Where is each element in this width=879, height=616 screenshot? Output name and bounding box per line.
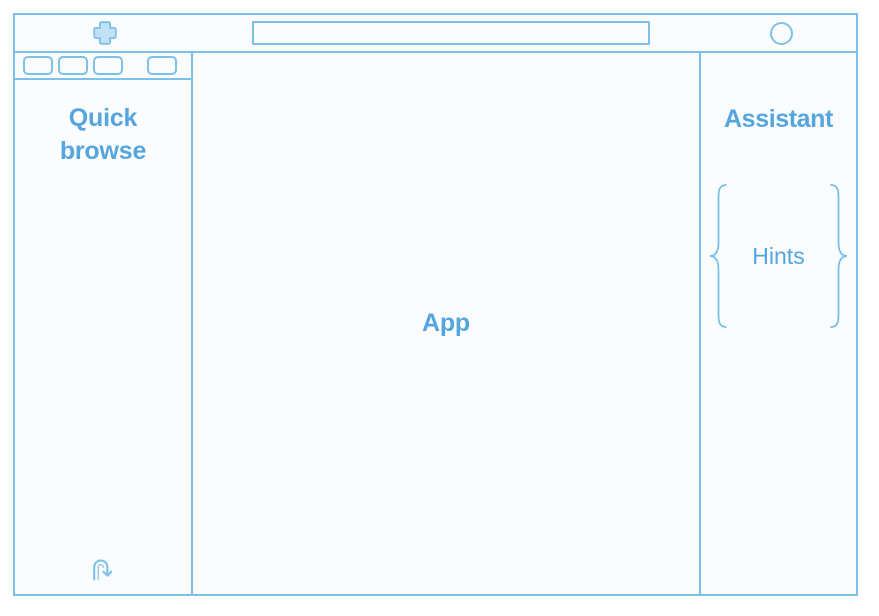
profile-area bbox=[706, 15, 856, 51]
left-curly-brace-icon bbox=[706, 182, 732, 330]
hints-block: Hints bbox=[711, 182, 846, 330]
sidebar-heading: Quick browse bbox=[60, 102, 146, 168]
address-input[interactable] bbox=[252, 21, 650, 45]
assistant-panel: Assistant Hints bbox=[701, 53, 856, 594]
app-content-pane[interactable]: App bbox=[193, 53, 701, 594]
wireframe-canvas: Quick browse bbox=[0, 0, 879, 616]
right-curly-brace-icon bbox=[825, 182, 851, 330]
address-bar-area bbox=[195, 15, 706, 51]
assistant-heading: Assistant bbox=[724, 105, 833, 134]
window-body: Quick browse bbox=[15, 53, 856, 594]
sidebar-content: Quick browse bbox=[15, 80, 191, 594]
sidebar-tabstrip bbox=[15, 53, 191, 80]
hints-label: Hints bbox=[752, 243, 804, 270]
new-tab-area bbox=[15, 15, 195, 51]
app-label: App bbox=[422, 309, 470, 338]
sidebar-heading-line-1: Quick bbox=[60, 102, 146, 135]
circle-avatar-icon[interactable] bbox=[770, 22, 793, 45]
browser-window-frame: Quick browse bbox=[13, 13, 858, 596]
browser-top-bar bbox=[15, 15, 856, 53]
sidebar-footer bbox=[15, 554, 191, 584]
sidebar-item-tab-chip-3[interactable] bbox=[93, 56, 123, 75]
sidebar-panel: Quick browse bbox=[15, 53, 193, 594]
sidebar-item-tab-chip-4[interactable] bbox=[147, 56, 177, 75]
sidebar-heading-line-2: browse bbox=[60, 135, 146, 168]
sidebar-item-tab-chip-2[interactable] bbox=[58, 56, 88, 75]
sidebar-item-tab-chip-1[interactable] bbox=[23, 56, 53, 75]
u-turn-arrow-icon[interactable] bbox=[88, 554, 118, 584]
plus-icon[interactable] bbox=[92, 20, 118, 46]
